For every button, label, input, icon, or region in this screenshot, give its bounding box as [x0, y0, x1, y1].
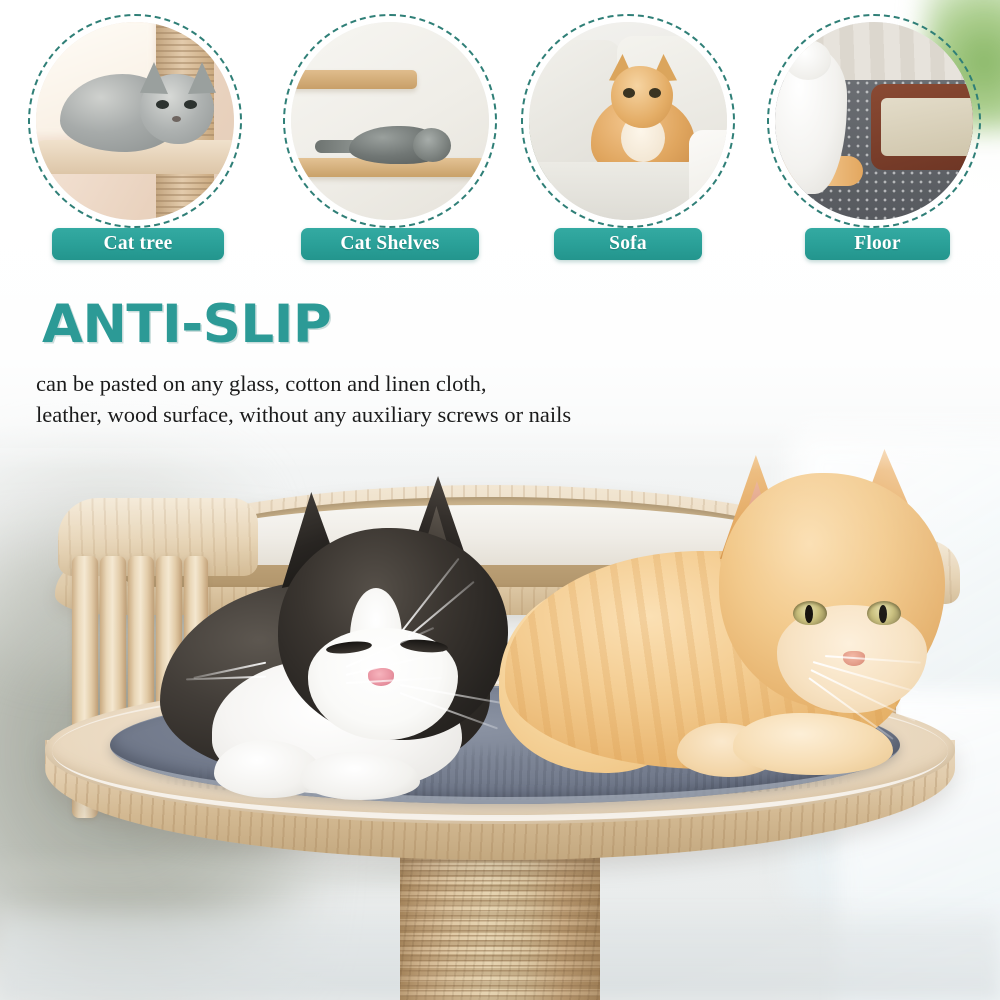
- thumbnail-floor[interactable]: [767, 14, 981, 228]
- kitten-pupil-right: [879, 605, 887, 623]
- description-text: can be pasted on any glass, cotton and l…: [36, 368, 736, 430]
- dashed-ring-border: [521, 14, 735, 228]
- dashed-ring-border: [767, 14, 981, 228]
- orange-tabby-kitten: [495, 455, 955, 825]
- headline-anti-slip: ANTI-SLIP: [42, 296, 331, 354]
- usage-thumbnail-row: [0, 0, 1000, 264]
- thumbnail-cat-shelves[interactable]: [283, 14, 497, 228]
- description-line-1: can be pasted on any glass, cotton and l…: [36, 368, 736, 399]
- kitten-pupil-left: [805, 605, 813, 623]
- description-line-2: leather, wood surface, without any auxil…: [36, 399, 736, 430]
- thumbnail-sofa[interactable]: [521, 14, 735, 228]
- thumbnail-cat-tree[interactable]: [28, 14, 242, 228]
- product-marketing-image: Cat tree Cat Shelves Sofa Floor ANTI-SLI…: [0, 0, 1000, 1000]
- dashed-ring-border: [28, 14, 242, 228]
- dashed-ring-border: [283, 14, 497, 228]
